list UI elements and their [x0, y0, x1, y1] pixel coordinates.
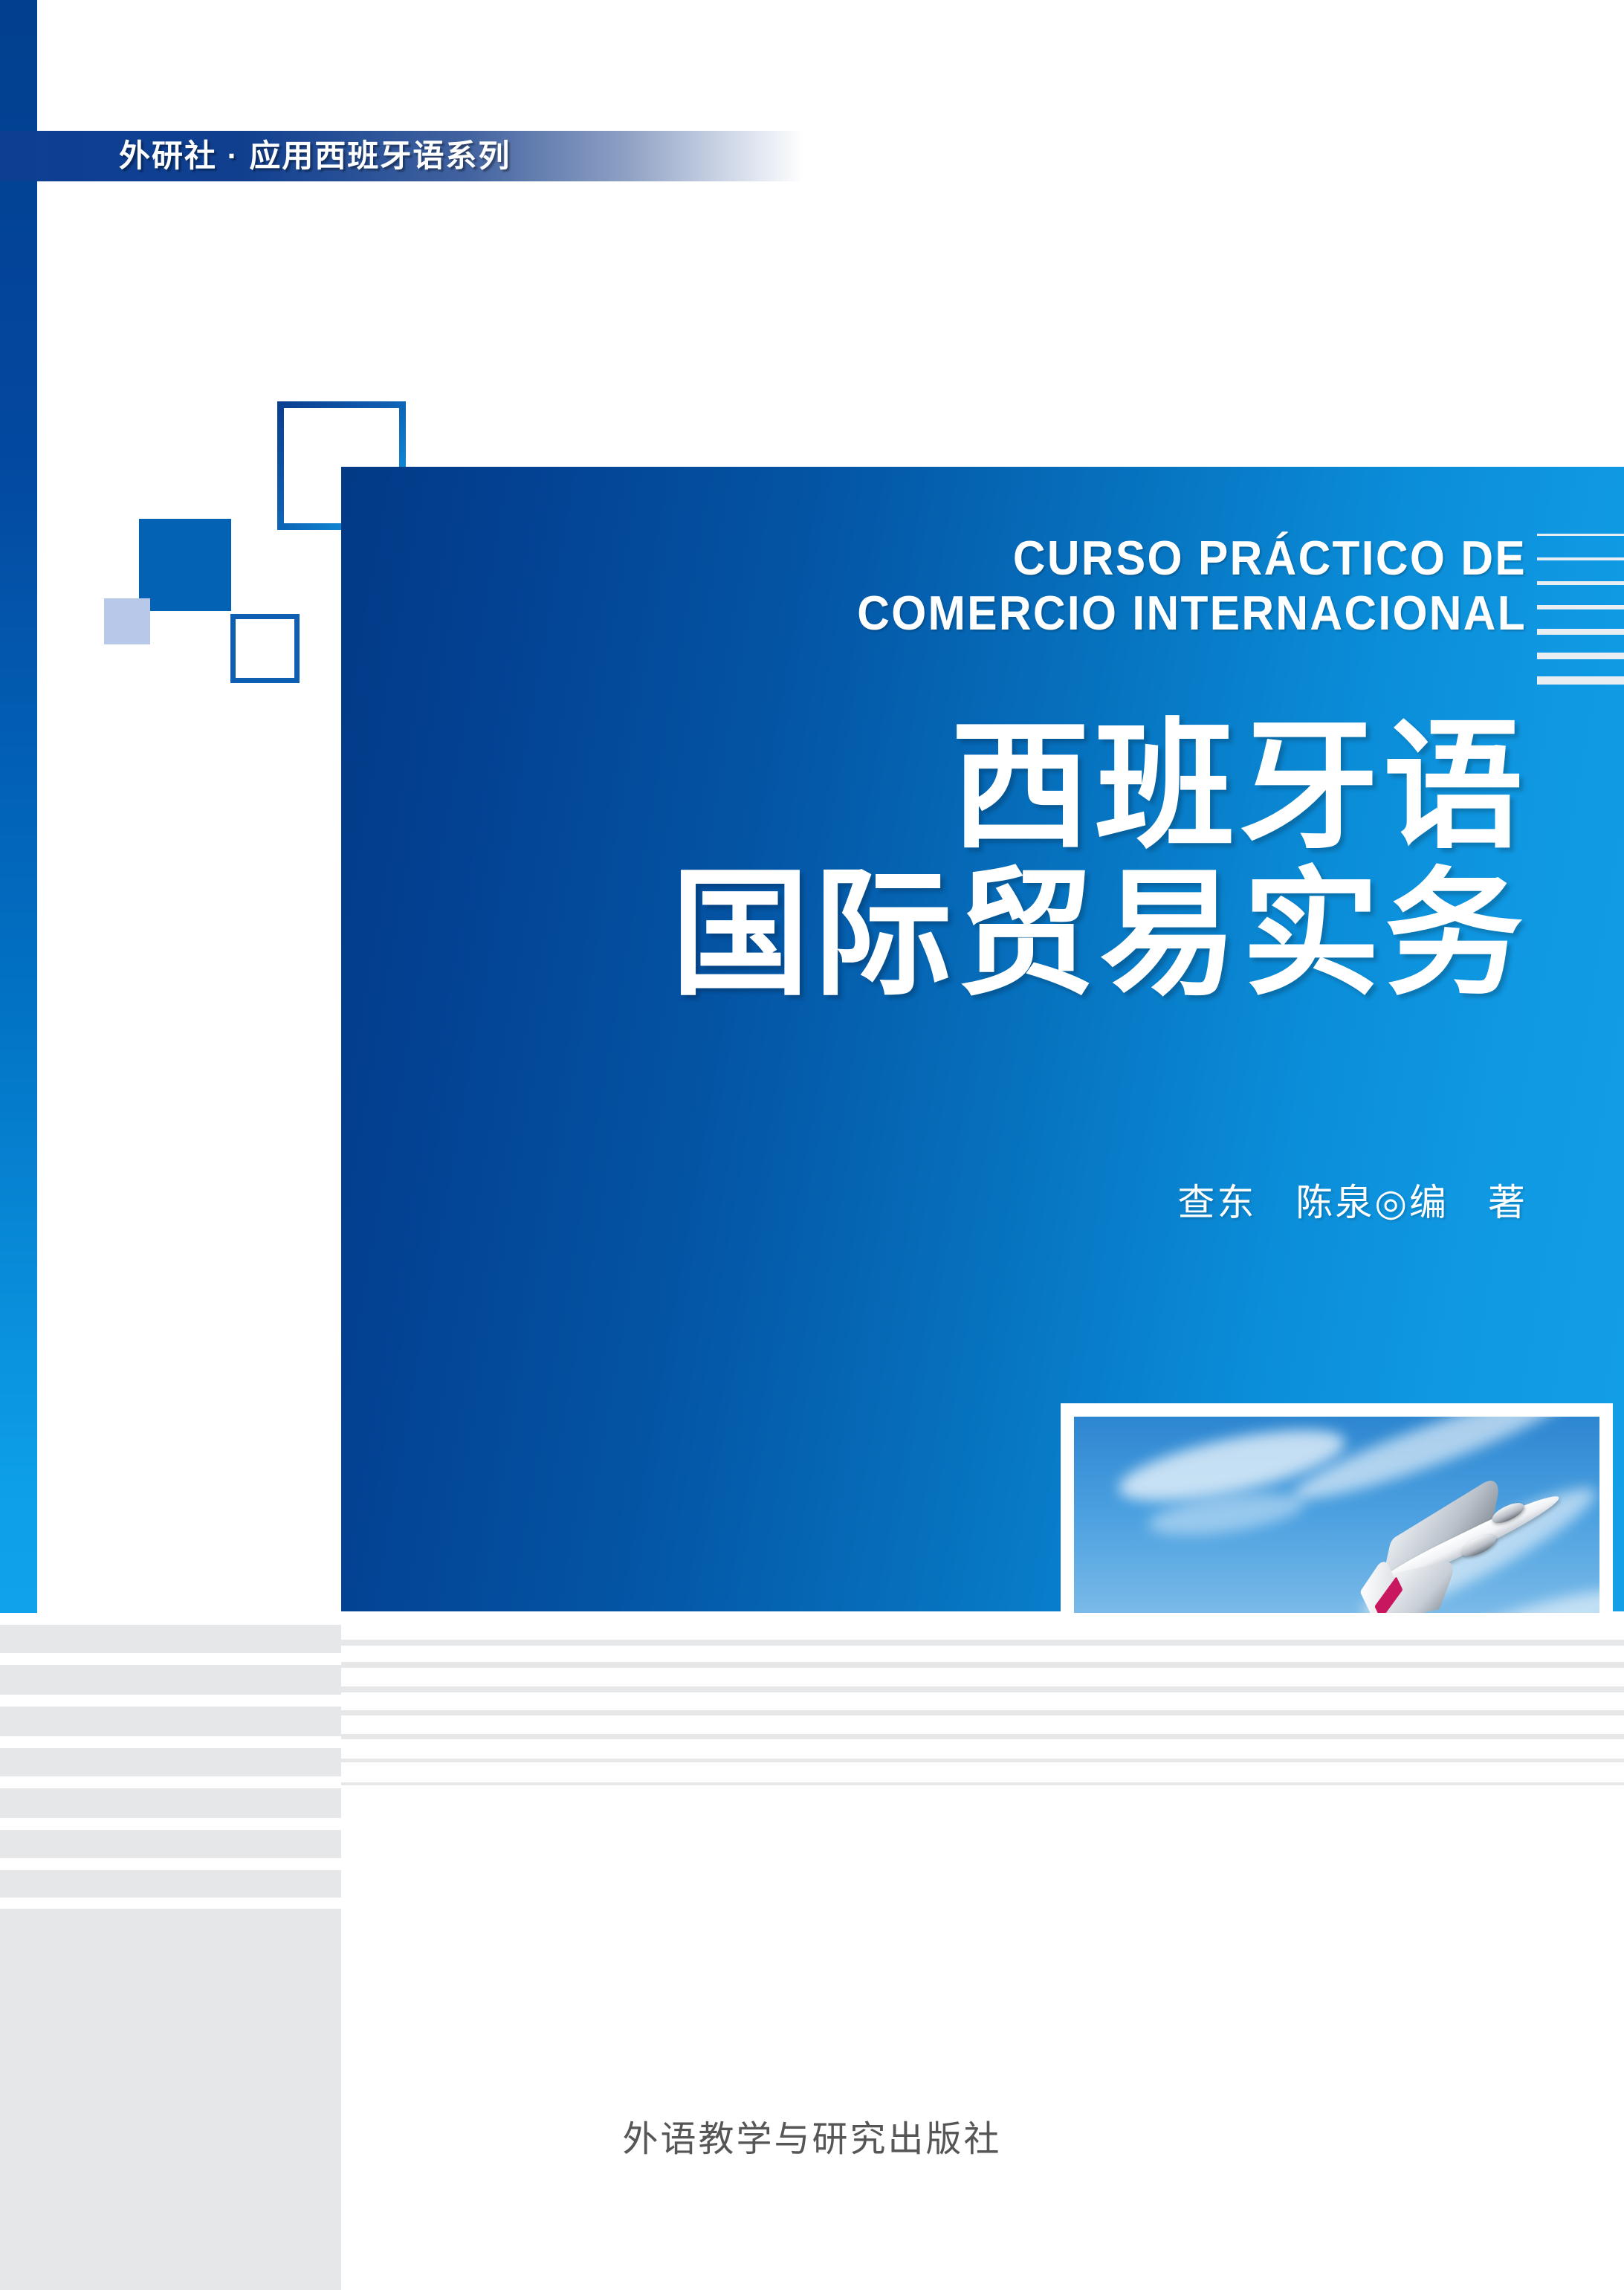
book-cover: 外研社 · 应用西班牙语系列 CURSO PRÁCTICO DE COMERCI… [0, 0, 1624, 2290]
stripe-band [0, 1707, 341, 1736]
stripe-line [341, 1662, 1624, 1668]
decorative-rule [1537, 653, 1624, 659]
decorative-rule [1537, 629, 1624, 635]
stripe-band [0, 1788, 341, 1818]
decorative-rule [1537, 557, 1624, 560]
left-spine-bar [0, 0, 37, 1613]
chinese-title-line-1: 西班牙语 [446, 712, 1527, 861]
stripe-band [0, 1748, 341, 1776]
stripe-band [0, 1665, 341, 1695]
bottom-stripes-left [0, 1613, 341, 2290]
spanish-title-line-2: COMERCIO INTERNACIONAL [494, 586, 1527, 641]
series-banner-label: 外研社 · 应用西班牙语系列 [119, 132, 788, 180]
chinese-title: 西班牙语 国际贸易实务 [446, 712, 1527, 1009]
spanish-title: CURSO PRÁCTICO DE COMERCIO INTERNACIONAL [494, 531, 1527, 641]
bottom-stripes-right [341, 1613, 1624, 2290]
stripe-line [341, 1640, 1624, 1646]
spanish-title-line-1: CURSO PRÁCTICO DE [494, 531, 1527, 586]
stripe-line [341, 1734, 1624, 1739]
stripe-band [0, 1909, 341, 2290]
publisher-name: 外语教学与研究出版社 [0, 2109, 1624, 2161]
stripe-line [341, 1759, 1624, 1762]
stripe-band [0, 1830, 341, 1858]
decorative-rule [1537, 676, 1624, 685]
stripe-band [0, 1625, 341, 1653]
stripe-line [341, 1710, 1624, 1715]
stripe-line [341, 1686, 1624, 1692]
decorative-square-lavender-small [104, 598, 150, 644]
author-line: 查东 陈泉◎编 著 [818, 1173, 1527, 1226]
decorative-rule [1537, 534, 1624, 536]
decorative-square-outline-small [230, 614, 300, 683]
chinese-title-line-2: 国际贸易实务 [446, 861, 1527, 1009]
stripe-line [341, 1782, 1624, 1785]
decorative-square-filled-medium [139, 519, 231, 611]
decorative-rule [1537, 581, 1624, 585]
decorative-rule [1537, 605, 1624, 609]
stripe-band [0, 1870, 341, 1898]
